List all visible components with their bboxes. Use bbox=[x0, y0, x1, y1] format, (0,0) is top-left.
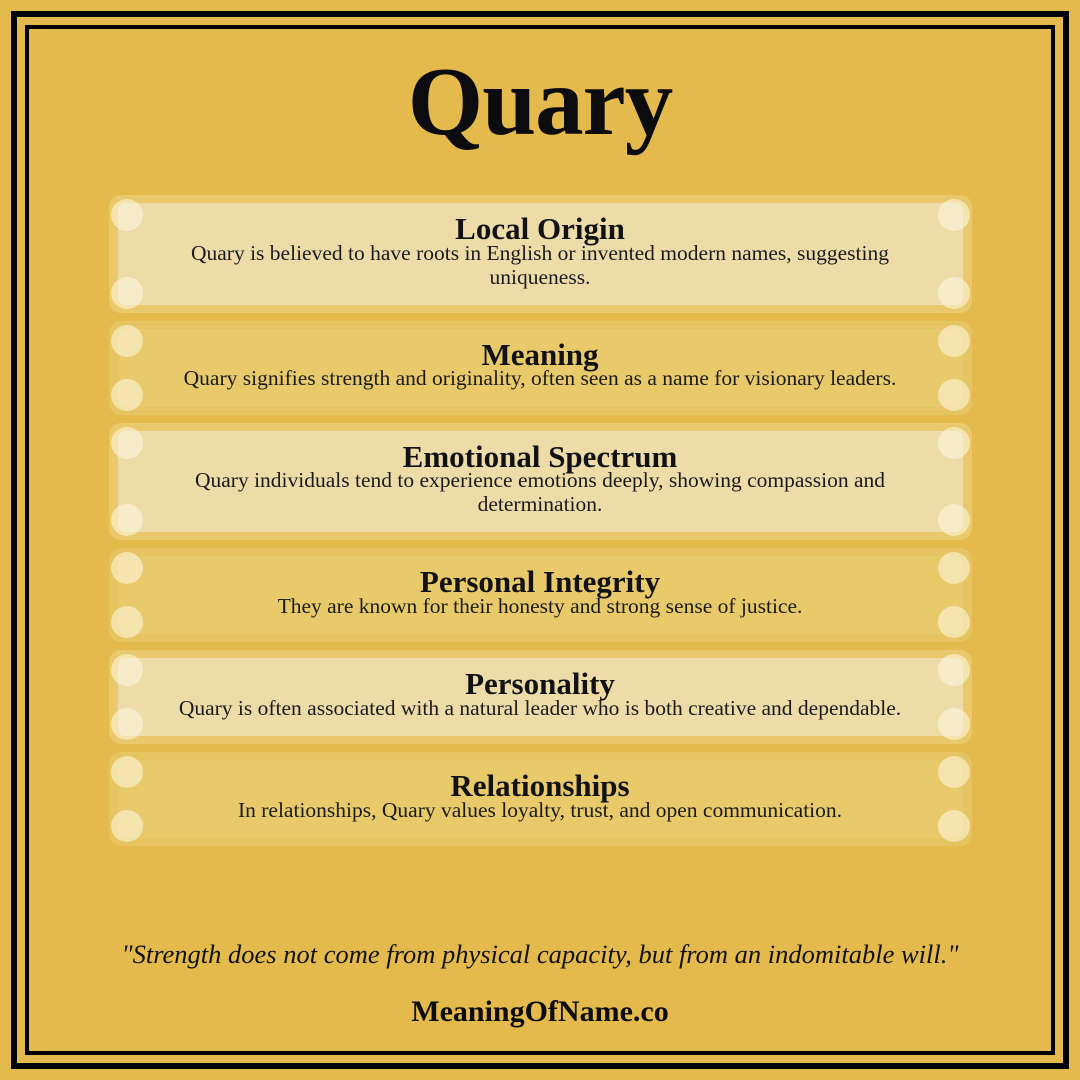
poster-footer: "Strength does not come from physical ca… bbox=[29, 939, 1051, 1051]
rivet-icon bbox=[111, 199, 143, 231]
rivet-icon bbox=[111, 325, 143, 357]
name-meaning-poster: Quary Local OriginQuary is believed to h… bbox=[0, 0, 1080, 1080]
attribute-card-list: Local OriginQuary is believed to have ro… bbox=[109, 195, 972, 846]
page-title: Quary bbox=[408, 53, 672, 150]
attribute-card-panel: Personal IntegrityThey are known for the… bbox=[118, 556, 963, 634]
footer-quote: "Strength does not come from physical ca… bbox=[29, 939, 1051, 971]
rivet-icon bbox=[938, 756, 970, 788]
rivet-icon bbox=[111, 708, 143, 740]
attribute-card-body: They are known for their honesty and str… bbox=[144, 594, 937, 618]
rivet-icon bbox=[938, 277, 970, 309]
rivet-icon bbox=[111, 756, 143, 788]
rivet-icon bbox=[111, 552, 143, 584]
rivet-icon bbox=[111, 810, 143, 842]
attribute-card-body: In relationships, Quary values loyalty, … bbox=[144, 798, 937, 822]
rivet-icon bbox=[938, 810, 970, 842]
rivet-icon bbox=[938, 199, 970, 231]
attribute-card-body: Quary is often associated with a natural… bbox=[144, 696, 937, 720]
attribute-card-panel: MeaningQuary signifies strength and orig… bbox=[118, 329, 963, 407]
attribute-card: MeaningQuary signifies strength and orig… bbox=[109, 321, 972, 415]
rivet-icon bbox=[938, 606, 970, 638]
rivet-icon bbox=[938, 504, 970, 536]
attribute-card-panel: Emotional SpectrumQuary individuals tend… bbox=[118, 431, 963, 533]
attribute-card-body: Quary is believed to have roots in Engli… bbox=[144, 241, 937, 289]
rivet-icon bbox=[111, 606, 143, 638]
rivet-icon bbox=[938, 552, 970, 584]
rivet-icon bbox=[111, 504, 143, 536]
rivet-icon bbox=[111, 379, 143, 411]
attribute-card: Emotional SpectrumQuary individuals tend… bbox=[109, 423, 972, 541]
attribute-card: RelationshipsIn relationships, Quary val… bbox=[109, 752, 972, 846]
rivet-icon bbox=[938, 427, 970, 459]
attribute-card-panel: PersonalityQuary is often associated wit… bbox=[118, 658, 963, 736]
rivet-icon bbox=[938, 654, 970, 686]
site-name: MeaningOfName.co bbox=[29, 997, 1051, 1027]
rivet-icon bbox=[938, 379, 970, 411]
poster-content: Quary Local OriginQuary is believed to h… bbox=[29, 29, 1051, 1051]
rivet-icon bbox=[938, 325, 970, 357]
attribute-card: PersonalityQuary is often associated wit… bbox=[109, 650, 972, 744]
attribute-card-body: Quary signifies strength and originality… bbox=[144, 366, 937, 390]
attribute-card: Local OriginQuary is believed to have ro… bbox=[109, 195, 972, 313]
rivet-icon bbox=[938, 708, 970, 740]
attribute-card-body: Quary individuals tend to experience emo… bbox=[144, 468, 937, 516]
attribute-card-panel: RelationshipsIn relationships, Quary val… bbox=[118, 760, 963, 838]
attribute-card-panel: Local OriginQuary is believed to have ro… bbox=[118, 203, 963, 305]
rivet-icon bbox=[111, 277, 143, 309]
rivet-icon bbox=[111, 654, 143, 686]
attribute-card: Personal IntegrityThey are known for the… bbox=[109, 548, 972, 642]
rivet-icon bbox=[111, 427, 143, 459]
